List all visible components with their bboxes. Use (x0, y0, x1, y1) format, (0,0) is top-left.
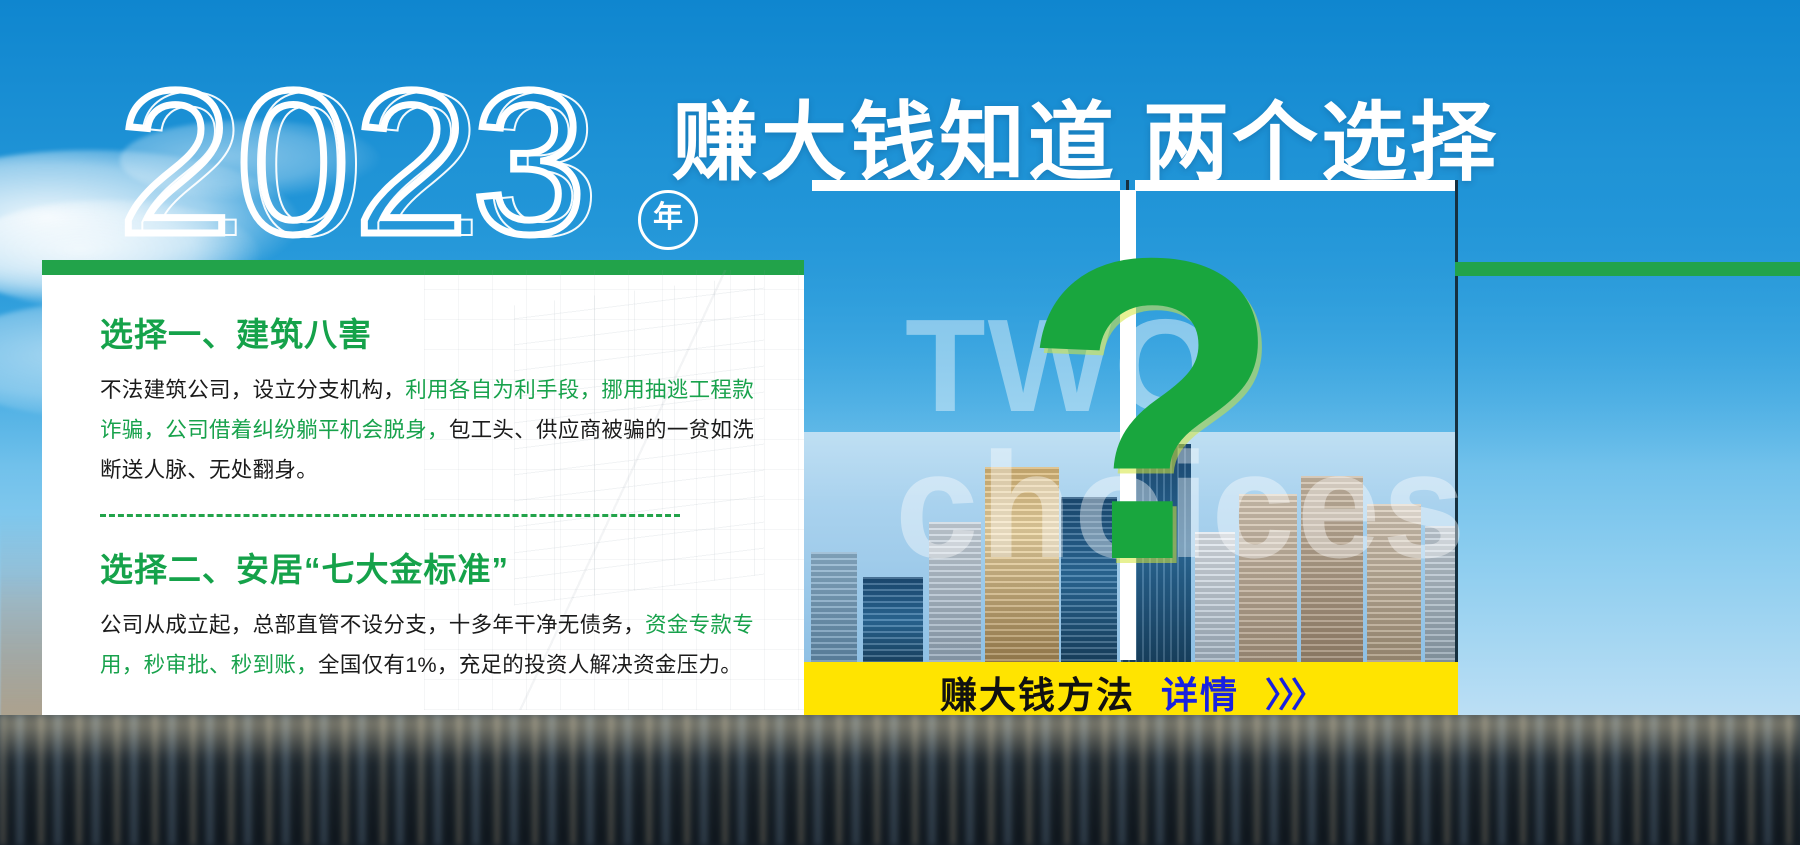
building (863, 577, 923, 672)
panel-frame-right-line (1455, 180, 1458, 670)
section-1-title: 选择一、建筑八害 (100, 308, 758, 356)
building (1367, 504, 1421, 672)
cta-action-link[interactable]: 详情 (1161, 665, 1239, 719)
section-1-text-a: 不法建筑公司，设立分支机构， (100, 378, 405, 402)
building-windows (1425, 526, 1455, 672)
building (1301, 476, 1363, 672)
content-card: 选择一、建筑八害 不法建筑公司，设立分支机构，利用各自为利手段，挪用抽逃工程款诈… (42, 260, 804, 715)
chevron-right-icon: 〉〉〉 (1265, 668, 1321, 717)
city-glow (0, 715, 1800, 761)
card-content: 选择一、建筑八害 不法建筑公司，设立分支机构，利用各自为利手段，挪用抽逃工程款诈… (42, 260, 804, 685)
green-accent-bar-right (1455, 262, 1800, 276)
section-2-text-a: 公司从成立起，总部直管不设分支，十多年干净无债务， (100, 613, 645, 637)
building-windows (929, 522, 981, 672)
year-unit-badge: 年 (638, 190, 698, 250)
building-windows (863, 577, 923, 672)
building-windows (1367, 504, 1421, 672)
section-2-text-c: 全国仅有1%，充足的投资人解决资金压力。 (318, 653, 742, 677)
banner-root: 2023 2023 年 赚大钱知道两个选择 TWO choices ? 赚大钱方… (0, 0, 1800, 845)
building-windows (1301, 476, 1363, 672)
section-1-body: 不法建筑公司，设立分支机构，利用各自为利手段，挪用抽逃工程款诈骗，公司借着纠纷躺… (100, 370, 758, 490)
cta-label: 赚大钱方法 (940, 665, 1135, 719)
cta-banner[interactable]: 赚大钱方法 详情 〉〉〉 (803, 662, 1458, 722)
section-2-title: 选择二、安居“七大金标准” (100, 543, 758, 591)
building (1425, 526, 1455, 672)
building (929, 522, 981, 672)
building-windows (811, 552, 857, 672)
building (811, 552, 857, 672)
section-divider (100, 514, 680, 517)
section-2-body: 公司从成立起，总部直管不设分支，十多年干净无债务，资金专款专用，秒审批、秒到账，… (100, 605, 758, 685)
bottom-cityscape-strip (0, 715, 1800, 845)
question-mark-icon: ? (1020, 195, 1283, 625)
